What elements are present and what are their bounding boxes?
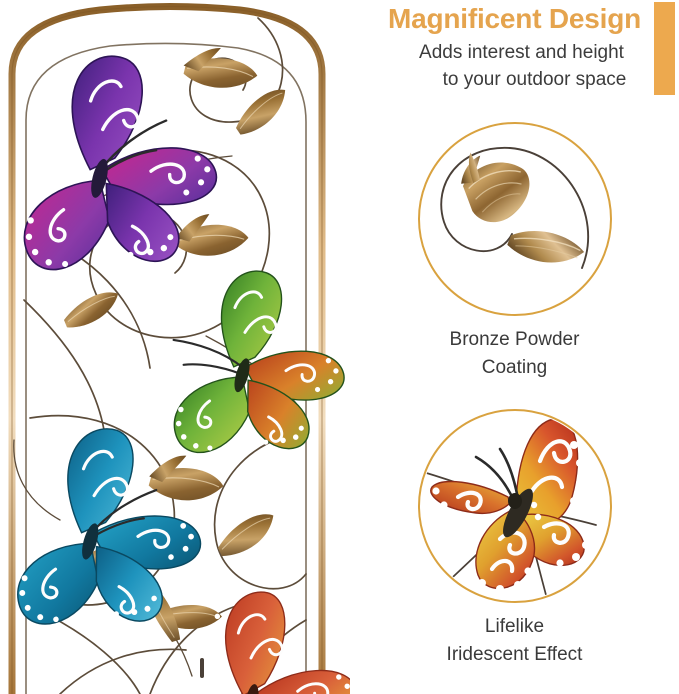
- feature-caption-bronze: Bronze Powder Coating: [350, 320, 679, 381]
- feature-circle-lifelike: [414, 405, 616, 607]
- subtitle-line-1: Adds interest and height: [350, 35, 679, 67]
- trellis-stake-nub: [200, 658, 204, 678]
- page-title: Magnificent Design: [350, 0, 679, 35]
- feature-caption-lifelike: Lifelike Iridescent Effect: [350, 607, 679, 668]
- feature-circle-bronze: [414, 118, 616, 320]
- accent-bar: [654, 2, 675, 95]
- orange-butterfly-detail-icon: [414, 405, 616, 607]
- headline-block: Magnificent Design Adds interest and hei…: [350, 0, 679, 94]
- bronze-leaf-detail-icon: [414, 118, 616, 320]
- feature-caption-lifelike-line-2: Iridescent Effect: [350, 641, 679, 669]
- feature-caption-bronze-line-2: Coating: [350, 354, 679, 382]
- butterfly-trellis-illustration: [0, 0, 350, 694]
- subtitle-line-2: to your outdoor space: [350, 67, 679, 94]
- feature-lifelike-iridescent-effect: Lifelike Iridescent Effect: [350, 405, 679, 668]
- feature-caption-lifelike-line-1: Lifelike: [350, 613, 679, 641]
- feature-bronze-powder-coating: Bronze Powder Coating: [350, 118, 679, 381]
- feature-caption-bronze-line-1: Bronze Powder: [350, 326, 679, 354]
- product-image-panel: [0, 0, 350, 694]
- marketing-panel: Magnificent Design Adds interest and hei…: [350, 0, 679, 694]
